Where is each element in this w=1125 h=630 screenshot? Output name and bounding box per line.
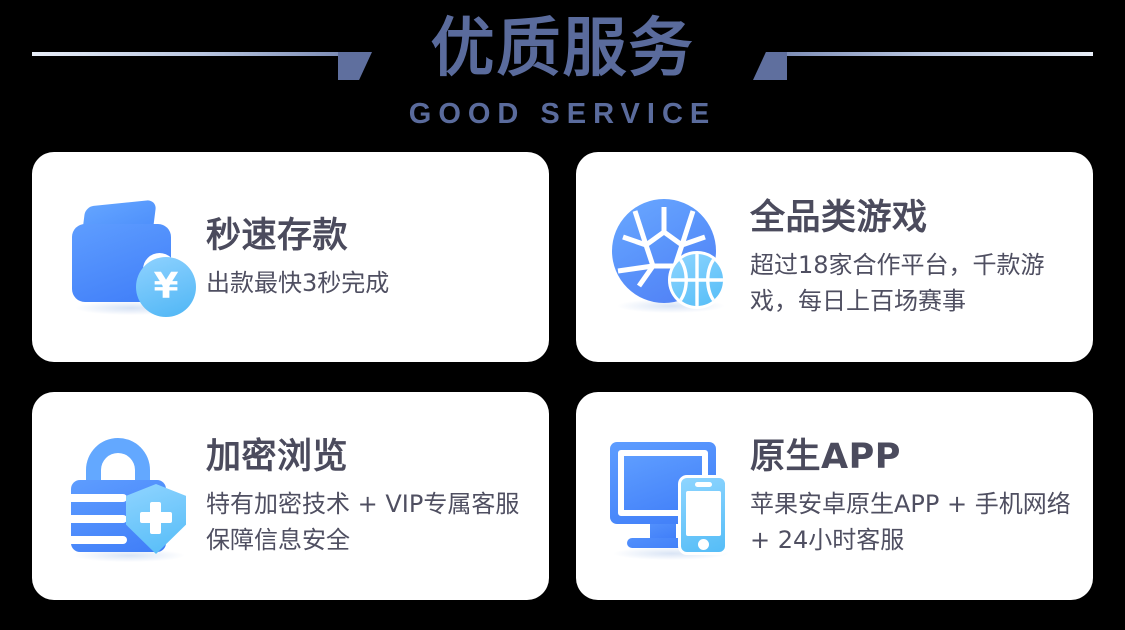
feature-card-encrypted-browsing[interactable]: 加密浏览 特有加密技术 + VIP专属客服保障信息安全: [32, 392, 549, 600]
lock-slot: [71, 515, 127, 523]
page-subtitle: GOOD SERVICE: [0, 97, 1125, 131]
lock-slot: [71, 494, 127, 502]
basketball-icon: [668, 251, 726, 309]
feature-card-native-app[interactable]: 原生APP 苹果安卓原生APP + 手机网络 + 24小时客服: [576, 392, 1093, 600]
soccer-basketball-icon: [606, 191, 738, 323]
card-title: 全品类游戏: [750, 196, 1079, 240]
card-text-block: 全品类游戏 超过18家合作平台，千款游戏，每日上百场赛事: [738, 196, 1093, 319]
lock-shield-icon: [62, 430, 194, 562]
feature-card-instant-deposit[interactable]: ¥ 秒速存款 出款最快3秒完成: [32, 152, 549, 362]
phone-speaker: [695, 482, 712, 487]
card-icon-slot: [62, 430, 194, 562]
card-title: 秒速存款: [206, 214, 535, 258]
phone-screen: [686, 491, 721, 536]
card-text-block: 原生APP 苹果安卓原生APP + 手机网络 + 24小时客服: [738, 435, 1093, 558]
card-icon-slot: [606, 191, 738, 323]
card-description: 苹果安卓原生APP + 手机网络 + 24小时客服: [750, 486, 1079, 558]
wallet-coin-icon: ¥: [62, 191, 194, 323]
promo-banner: 优质服务 GOOD SERVICE ¥ 秒速存款 出款最快3秒完成: [0, 0, 1125, 630]
card-description: 出款最快3秒完成: [206, 265, 535, 301]
card-description: 超过18家合作平台，千款游戏，每日上百场赛事: [750, 247, 1079, 319]
card-title: 原生APP: [750, 435, 1079, 479]
monitor-phone-icon: [606, 430, 738, 562]
phone-home-button: [698, 539, 709, 550]
yen-symbol: ¥: [136, 257, 196, 317]
card-icon-slot: [606, 430, 738, 562]
page-title: 优质服务: [0, 8, 1125, 90]
card-text-block: 加密浏览 特有加密技术 + VIP专属客服保障信息安全: [194, 435, 549, 558]
card-text-block: 秒速存款 出款最快3秒完成: [194, 214, 549, 301]
lock-slot: [71, 536, 127, 544]
card-title: 加密浏览: [206, 435, 535, 479]
card-icon-slot: ¥: [62, 191, 194, 323]
card-description: 特有加密技术 + VIP专属客服保障信息安全: [206, 486, 535, 558]
feature-card-all-category-games[interactable]: 全品类游戏 超过18家合作平台，千款游戏，每日上百场赛事: [576, 152, 1093, 362]
plus-icon-vertical: [150, 502, 161, 534]
feature-card-grid: ¥ 秒速存款 出款最快3秒完成: [32, 152, 1093, 600]
header-section: 优质服务 GOOD SERVICE: [0, 0, 1125, 145]
